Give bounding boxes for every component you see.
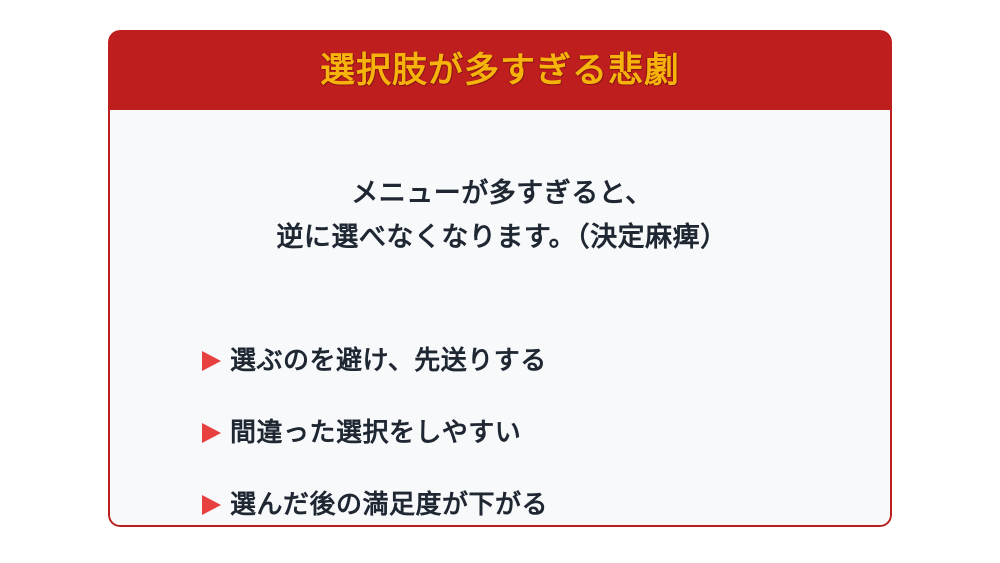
lead-line-2: 逆に選べなくなります。（決定麻痺） <box>110 216 892 260</box>
card-body: メニューが多すぎると、 逆に選べなくなります。（決定麻痺） 選ぶのを避け、先送り… <box>108 110 892 527</box>
lead-paragraph: メニューが多すぎると、 逆に選べなくなります。（決定麻痺） <box>110 172 892 259</box>
bullet-list: 選ぶのを避け、先送りする 間違った選択をしやすい 選んだ後の満足度が下がる <box>198 342 858 524</box>
bullet-item-label: 間違った選択をしやすい <box>230 417 521 448</box>
bullet-item-label: 選ぶのを避け、先送りする <box>230 345 547 376</box>
content-card: 選択肢が多すぎる悲劇 メニューが多すぎると、 逆に選べなくなります。（決定麻痺）… <box>108 30 892 527</box>
triangle-right-icon <box>198 348 224 374</box>
triangle-right-icon <box>198 420 224 446</box>
bullet-item: 選んだ後の満足度が下がる <box>198 486 858 524</box>
slide-canvas: 選択肢が多すぎる悲劇 メニューが多すぎると、 逆に選べなくなります。（決定麻痺）… <box>0 0 1000 563</box>
triangle-right-icon <box>198 492 224 518</box>
card-title: 選択肢が多すぎる悲劇 <box>320 53 680 88</box>
bullet-item: 選ぶのを避け、先送りする <box>198 342 858 380</box>
bullet-item-label: 選んだ後の満足度が下がる <box>230 489 548 520</box>
bullet-item: 間違った選択をしやすい <box>198 414 858 452</box>
card-header: 選択肢が多すぎる悲劇 <box>108 30 892 110</box>
lead-line-1: メニューが多すぎると、 <box>110 172 892 216</box>
